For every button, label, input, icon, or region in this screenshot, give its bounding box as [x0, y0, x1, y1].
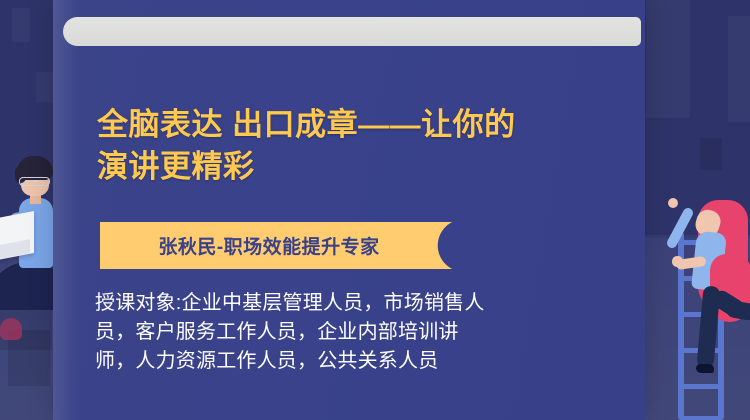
climber-shoe: [696, 364, 714, 373]
audience-description: 授课对象:企业中基层管理人员，市场销售人员，客户服务工作人员，企业内部培训讲师，…: [95, 289, 487, 376]
ladder-rung: [680, 416, 722, 420]
glasses-icon: [19, 177, 50, 186]
background-block-6: [646, 0, 690, 118]
background-block-5: [700, 138, 722, 170]
woman-climbing-ladder-illustration: [666, 190, 750, 390]
secondary-figure-hair: [0, 318, 22, 340]
climber-raised-hand: [668, 198, 678, 208]
climber-raised-arm: [665, 206, 694, 250]
promo-banner: 全脑表达 出口成章——让你的演讲更精彩 张秋民-职场效能提升专家 授课对象:企业…: [0, 0, 750, 420]
climber-lower-hand: [672, 256, 683, 267]
page-title: 全脑表达 出口成章——让你的演讲更精彩: [97, 104, 517, 187]
secondary-figure-illustration: [0, 318, 46, 358]
panel-edge-highlight: [53, 0, 79, 420]
speaker-ribbon: 张秋民-职场效能提升专家: [100, 222, 464, 269]
decorative-light-bar: [63, 17, 641, 46]
speaker-name-label: 张秋民-职场效能提升专家: [100, 222, 464, 269]
climber-front-leg: [696, 285, 720, 368]
background-block-7: [728, 16, 750, 122]
background-block-1: [12, 8, 30, 42]
